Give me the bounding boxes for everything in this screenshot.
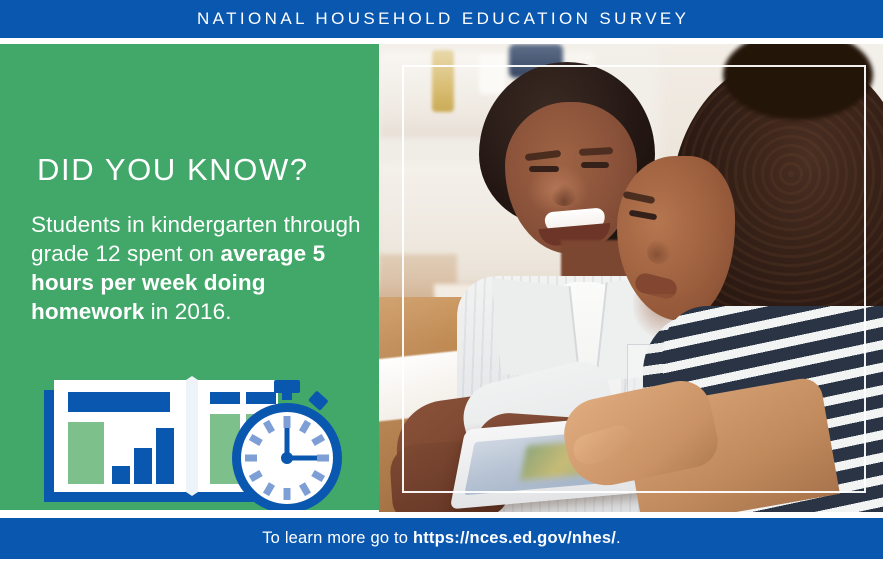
infographic-canvas: NATIONAL HOUSEHOLD EDUCATION SURVEY DID … (0, 0, 883, 566)
footer-url-link[interactable]: https://nces.ed.gov/nhes/ (413, 529, 616, 547)
book-spine (186, 376, 198, 496)
body-tail-text: in 2016. (144, 299, 231, 324)
open-book-with-stopwatch-icon (38, 374, 343, 510)
footer-text: To learn more go to https://nces.ed.gov/… (262, 529, 621, 548)
panel-kicker: DID YOU KNOW? (37, 152, 309, 188)
statistic-panel: DID YOU KNOW? Students in kindergarten t… (0, 44, 379, 510)
kitchen-jar-white (479, 54, 505, 94)
family-photo (379, 44, 883, 512)
panel-body-copy: Students in kindergarten through grade 1… (31, 210, 361, 326)
book-left-page (54, 380, 186, 492)
mother-eye-left (529, 166, 559, 172)
footer-lead-text: To learn more go to (262, 529, 413, 547)
girl-nose (647, 240, 671, 264)
kitchen-jar-gold (432, 50, 454, 112)
mother-eye-right (581, 162, 609, 168)
footer-tail-text: . (616, 529, 621, 547)
footer-bar: To learn more go to https://nces.ed.gov/… (0, 518, 883, 559)
header-title: NATIONAL HOUSEHOLD EDUCATION SURVEY (194, 9, 690, 29)
header-bar: NATIONAL HOUSEHOLD EDUCATION SURVEY (0, 0, 883, 38)
